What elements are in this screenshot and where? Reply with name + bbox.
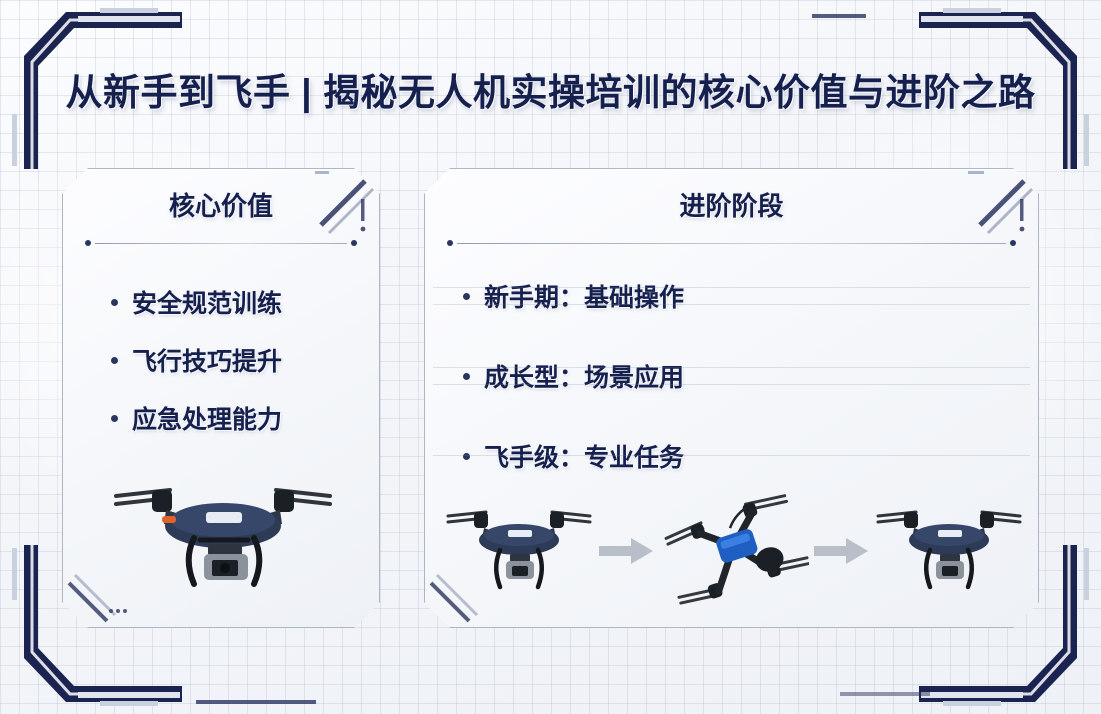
progression-stage-list: 新手期：基础操作 成长型：场景应用 飞手级：专业任务 [463, 278, 1038, 474]
bullet-dot-icon [463, 293, 470, 300]
list-item: 新手期：基础操作 [463, 278, 1038, 314]
list-item: 成长型：场景应用 [463, 358, 1038, 394]
drone-image-core-value [108, 468, 338, 608]
card-left-divider [85, 240, 357, 248]
band-line [433, 455, 1030, 456]
list-item-label: 飞行技巧提升 [132, 342, 282, 378]
list-item-label: 安全规范训练 [132, 284, 282, 320]
bullet-dot-icon [111, 357, 118, 364]
divider-dot-right [1010, 240, 1016, 246]
page-title: 从新手到飞手 | 揭秘无人机实操培训的核心价值与进阶之路 [66, 62, 1036, 116]
divider-line [457, 243, 1006, 244]
bullet-dot-icon [463, 373, 470, 380]
drone-stage-1 [444, 492, 594, 610]
list-item-label: 新手期：基础操作 [484, 278, 684, 314]
list-item-label: 成长型：场景应用 [484, 358, 684, 394]
band-line [433, 384, 1030, 385]
list-item-label: 应急处理能力 [132, 400, 282, 436]
card-right-divider [447, 240, 1016, 248]
band-line [433, 304, 1030, 305]
card-right-heading: 进阶阶段 [425, 169, 1038, 223]
divider-dot-left [85, 240, 91, 246]
divider-dot-left [447, 240, 453, 246]
bullet-dot-icon [111, 299, 118, 306]
divider-line [95, 243, 347, 244]
slide-canvas: 从新手到飞手 | 揭秘无人机实操培训的核心价值与进阶之路 [0, 0, 1101, 714]
core-value-list: 安全规范训练 飞行技巧提升 应急处理能力 [111, 284, 379, 436]
card-left-heading: 核心价值 [63, 169, 379, 223]
bullet-dot-icon [463, 453, 470, 460]
drone-progression-sequence [444, 492, 1024, 610]
list-item: 飞手级：专业任务 [463, 438, 1038, 474]
list-item-label: 飞手级：专业任务 [484, 438, 684, 474]
bullet-dot-icon [111, 415, 118, 422]
hud-tick [812, 14, 866, 18]
list-item: 飞行技巧提升 [111, 342, 379, 378]
drone-stage-3 [874, 492, 1024, 610]
list-item: 应急处理能力 [111, 400, 379, 436]
band-line [433, 287, 1030, 288]
list-item: 安全规范训练 [111, 284, 379, 320]
band-line [433, 367, 1030, 368]
hud-tick [196, 700, 316, 704]
arrow-right-icon [599, 536, 655, 566]
hud-tick [840, 692, 930, 696]
drone-stage-2 [659, 492, 809, 610]
divider-dot-right [351, 240, 357, 246]
arrow-right-icon [814, 536, 870, 566]
slide-title-bar: 从新手到飞手 | 揭秘无人机实操培训的核心价值与进阶之路 [0, 62, 1101, 116]
